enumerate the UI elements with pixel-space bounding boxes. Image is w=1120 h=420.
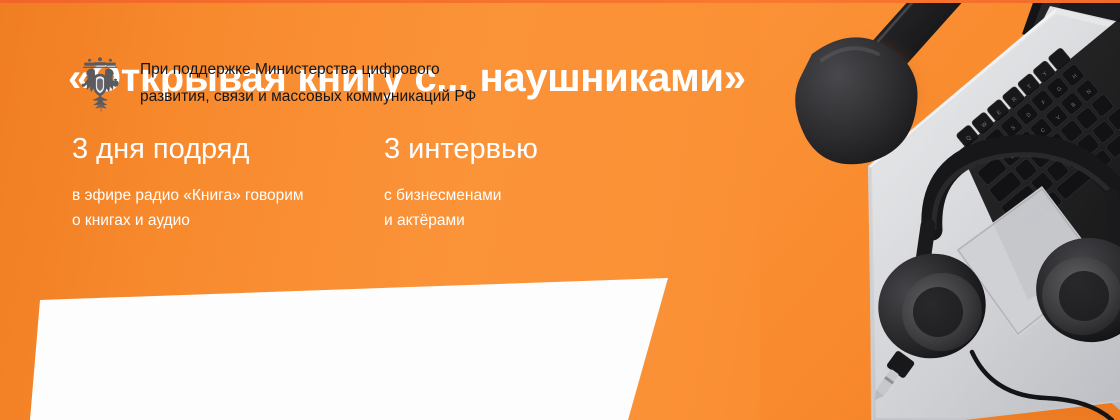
fact-column-interviews: 3 интервью с бизнесменами и актёрами: [384, 134, 684, 233]
support-card: [0, 268, 700, 420]
fact-subtitle-interviews: с бизнесменами и актёрами: [384, 183, 684, 233]
promo-banner: QWE RTY ASD FGH ZXC VBN: [0, 0, 1120, 420]
top-accent-strip: [0, 0, 1120, 3]
support-text: При поддержке Министерства цифрового раз…: [140, 57, 476, 110]
fact-title-interviews: 3 интервью: [384, 134, 684, 166]
podcast-equipment-photo: QWE RTY ASD FGH ZXC VBN: [760, 0, 1120, 420]
fact-subtitle-days: в эфире радио «Книга» говорим о книгах и…: [72, 183, 372, 233]
russian-coat-of-arms-icon: [78, 55, 122, 113]
fact-column-days: 3 дня подряд в эфире радио «Книга» говор…: [72, 134, 372, 233]
fact-title-days: 3 дня подряд: [72, 134, 372, 166]
support-card-content: При поддержке Министерства цифрового раз…: [78, 55, 476, 113]
